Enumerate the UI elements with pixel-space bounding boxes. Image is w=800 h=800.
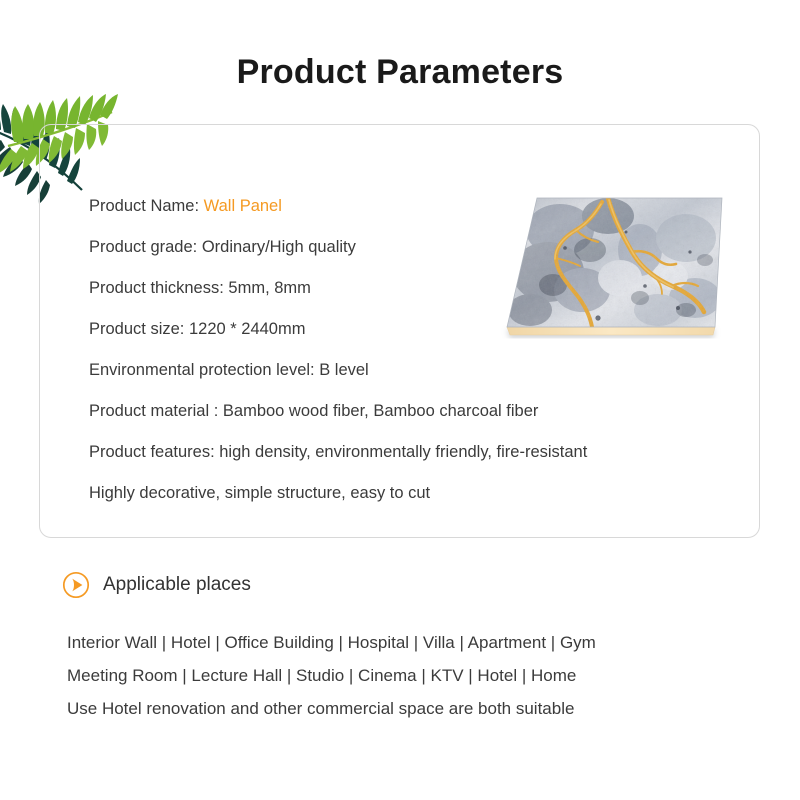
applicable-places-line: Meeting Room | Lecture Hall | Studio | C… [67, 659, 762, 692]
spec-row-environmental-level: Environmental protection level: B level [89, 350, 689, 391]
marble-face [507, 198, 722, 327]
spec-label: Environmental protection level: [89, 361, 319, 379]
spec-value: Highly decorative, simple structure, eas… [89, 484, 430, 502]
spec-label: Product Name: [89, 197, 204, 215]
spec-label: Product features: [89, 443, 219, 461]
spec-value: high density, environmentally friendly, … [219, 443, 587, 461]
spec-row-product-features: Product features: high density, environm… [89, 432, 689, 473]
panel-edge [507, 327, 715, 335]
product-image-marble-panel [490, 190, 735, 350]
spec-value: B level [319, 361, 369, 379]
spec-value: 5mm, 8mm [228, 279, 311, 297]
spec-label: Product size: [89, 320, 189, 338]
spec-label: Product material : [89, 402, 223, 420]
applicable-places-line: Use Hotel renovation and other commercia… [67, 692, 762, 725]
spec-value: 1220 * 2440mm [189, 320, 306, 338]
spec-value: Ordinary/High quality [202, 238, 356, 256]
spec-row-product-material: Product material : Bamboo wood fiber, Ba… [89, 391, 689, 432]
spec-value: Bamboo wood fiber, Bamboo charcoal fiber [223, 402, 539, 420]
circled-play-arrow-icon [62, 571, 90, 599]
applicable-places-section: Applicable places Interior Wall | Hotel … [62, 570, 762, 725]
page-title: Product Parameters [0, 52, 800, 92]
spec-label: Product thickness: [89, 279, 228, 297]
spec-label: Product grade: [89, 238, 202, 256]
applicable-places-list: Interior Wall | Hotel | Office Building … [67, 626, 762, 725]
applicable-places-header: Applicable places [62, 570, 762, 600]
spec-row-extra-features: Highly decorative, simple structure, eas… [89, 473, 689, 514]
applicable-places-title: Applicable places [103, 571, 251, 599]
spec-value: Wall Panel [204, 197, 282, 215]
applicable-places-line: Interior Wall | Hotel | Office Building … [67, 626, 762, 659]
